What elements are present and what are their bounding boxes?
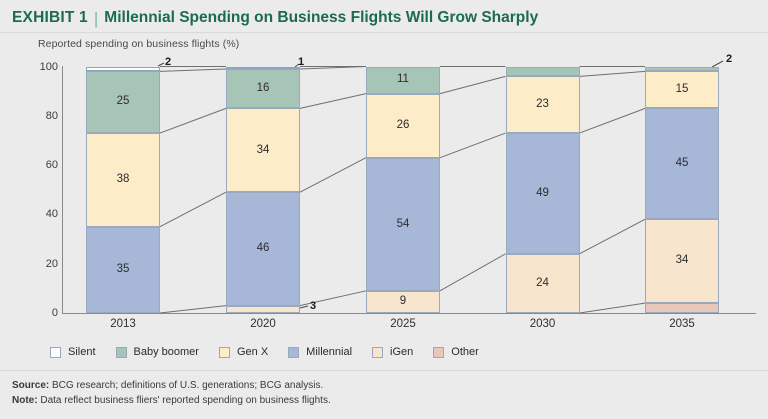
x-tick-label: 2013 [78, 318, 168, 330]
x-axis-line [62, 313, 756, 314]
legend-label: Millennial [306, 346, 352, 358]
bar-segment: 34 [226, 108, 300, 192]
legend-label: Other [451, 346, 479, 358]
bar-value-label: 9 [400, 296, 406, 308]
bar-segment [506, 67, 580, 77]
bar-value-label: 16 [257, 83, 270, 95]
bar-segment: 49 [506, 133, 580, 254]
outside-value-label: 1 [298, 56, 304, 68]
connector-line [440, 133, 506, 158]
y-tick-label: 100 [12, 61, 58, 73]
bar-value-label: 35 [117, 264, 130, 276]
legend-item[interactable]: Other [433, 346, 479, 358]
legend-swatch-icon [372, 347, 383, 358]
y-tick-label: 80 [12, 110, 58, 122]
connector-line [300, 94, 366, 109]
y-tick-label: 40 [12, 208, 58, 220]
bar-segment: 46 [226, 192, 300, 305]
connector-line [160, 192, 226, 227]
chart-footnotes: Source: BCG research; definitions of U.S… [12, 378, 331, 408]
bar-segment: 11 [366, 67, 440, 94]
note-label: Note: [12, 395, 38, 406]
bar-value-label: 46 [257, 243, 270, 255]
legend-swatch-icon [116, 347, 127, 358]
legend-swatch-icon [433, 347, 444, 358]
source-text: BCG research; definitions of U.S. genera… [49, 380, 323, 391]
bar-segment: 38 [86, 133, 160, 227]
bar-segment [226, 306, 300, 313]
x-tick-label: 2035 [637, 318, 727, 330]
connector-line [580, 71, 646, 76]
legend-label: Silent [68, 346, 96, 358]
legend-item[interactable]: Baby boomer [116, 346, 199, 358]
connector-line [160, 108, 226, 133]
outside-value-label: 2 [165, 56, 171, 68]
bar-value-label: 25 [117, 96, 130, 108]
outside-value-label: 3 [310, 300, 316, 312]
legend-swatch-icon [50, 347, 61, 358]
bar-value-label: 23 [536, 99, 549, 111]
x-tick-label: 2030 [498, 318, 588, 330]
bar-value-label: 15 [676, 84, 689, 96]
source-label: Source: [12, 380, 49, 391]
connector-line [300, 158, 366, 193]
bar-value-label: 49 [536, 188, 549, 200]
y-axis-line [62, 66, 63, 314]
legend-item[interactable]: Gen X [219, 346, 268, 358]
connector-line [440, 76, 506, 93]
bar-value-label: 24 [536, 278, 549, 290]
connector-line [580, 219, 646, 254]
bar-segment: 25 [86, 71, 160, 133]
legend-item[interactable]: iGen [372, 346, 413, 358]
bar-segment: 26 [366, 94, 440, 158]
bar-value-label: 34 [676, 255, 689, 267]
label-leader-line [300, 306, 308, 308]
connector-line [580, 108, 646, 133]
chart-legend: SilentBaby boomerGen XMillennialiGenOthe… [50, 341, 740, 363]
bar-segment: 35 [86, 227, 160, 313]
footer-divider [0, 370, 768, 371]
bar-segment: 15 [645, 71, 719, 108]
bar-value-label: 38 [117, 174, 130, 186]
bar-value-label: 11 [397, 74, 409, 86]
bar-value-label: 34 [257, 145, 270, 157]
bar-segment: 54 [366, 158, 440, 291]
chart-plot-area: 020406080100 353825463416954261124492334… [0, 0, 768, 340]
connector-line [300, 67, 366, 69]
bar-segment: 24 [506, 254, 580, 313]
legend-item[interactable]: Silent [50, 346, 96, 358]
x-tick-label: 2020 [218, 318, 308, 330]
note-text: Data reflect business fliers' reported s… [38, 395, 331, 406]
y-axis-ticks: 020406080100 [0, 0, 58, 340]
y-tick-label: 60 [12, 159, 58, 171]
legend-swatch-icon [288, 347, 299, 358]
bar-segment: 45 [645, 108, 719, 219]
legend-label: Gen X [237, 346, 268, 358]
connector-line [580, 303, 646, 313]
bar-segment [86, 67, 160, 72]
source-line: Source: BCG research; definitions of U.S… [12, 378, 331, 393]
y-tick-label: 0 [12, 307, 58, 319]
bar-segment: 16 [226, 69, 300, 108]
legend-swatch-icon [219, 347, 230, 358]
connector-line [160, 306, 226, 313]
bar-segment: 9 [366, 291, 440, 313]
bar-value-label: 54 [397, 219, 410, 231]
bar-value-label: 26 [397, 120, 410, 132]
y-tick-label: 20 [12, 258, 58, 270]
bar-segment [645, 67, 719, 72]
legend-label: iGen [390, 346, 413, 358]
connector-line [440, 254, 506, 291]
note-line: Note: Data reflect business fliers' repo… [12, 393, 331, 408]
bar-segment: 34 [645, 219, 719, 303]
legend-label: Baby boomer [134, 346, 199, 358]
bar-segment [645, 303, 719, 313]
x-tick-label: 2025 [358, 318, 448, 330]
bar-segment [226, 67, 300, 69]
bar-segment: 23 [506, 76, 580, 133]
legend-item[interactable]: Millennial [288, 346, 352, 358]
bar-value-label: 45 [676, 158, 689, 170]
connector-line [160, 69, 226, 71]
outside-value-label: 2 [726, 53, 732, 65]
